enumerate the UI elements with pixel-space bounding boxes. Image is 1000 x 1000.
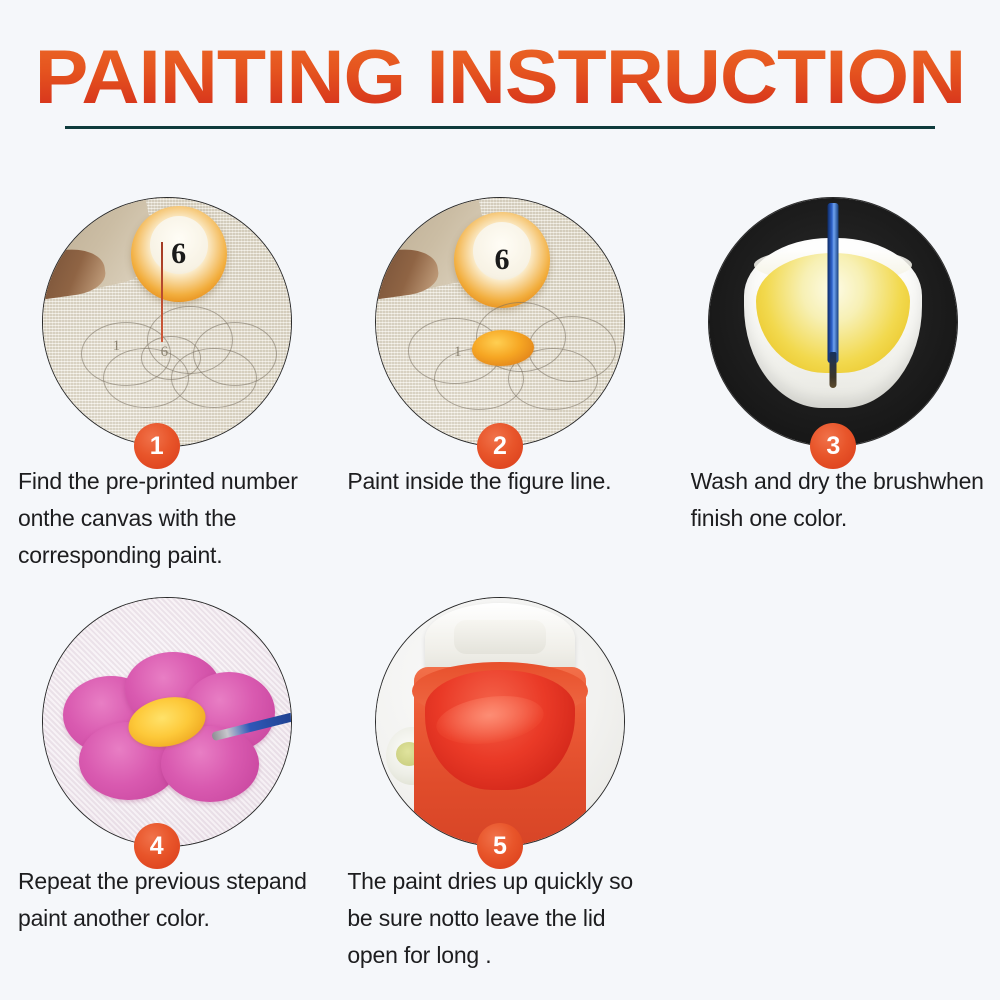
step-3-image [708,197,958,447]
step-4-thumb-wrap: 4 [42,597,292,847]
step-badge-3: 3 [810,423,856,469]
step-1-image: 6 1 6 [42,197,292,447]
step-badge-1: 1 [134,423,180,469]
step-badge-4: 4 [134,823,180,869]
painting-instruction-infographic: PAINTING INSTRUCTION [0,0,1000,1000]
paint-brush-tip [830,352,837,388]
step-card-5: 5 The paint dries up quickly so be sure … [333,590,666,990]
canvas-number-1: 1 [113,338,121,355]
steps-row-2: 4 Repeat the previous stepand paint anot… [0,590,1000,990]
step-5-image [375,597,625,847]
step-caption-4: Repeat the previous stepand paint anothe… [0,863,333,937]
step-badge-2: 2 [477,423,523,469]
step-2-thumb-wrap: 6 1 2 [375,197,625,447]
step-card-4: 4 Repeat the previous stepand paint anot… [0,590,333,990]
step-caption-5: The paint dries up quickly so be sure no… [333,863,666,974]
page-title-container: PAINTING INSTRUCTION [0,36,1000,120]
step-4-image [42,597,292,847]
paint-pot-icon: 6 [454,212,550,308]
step-1-thumb-wrap: 6 1 6 1 [42,197,292,447]
step-2-image: 6 1 [375,197,625,447]
page-title: PAINTING INSTRUCTION [35,36,966,120]
step-caption-1: Find the pre-printed number onthe canvas… [0,463,333,574]
pointer-line [161,242,163,342]
paint-pot-number: 6 [171,237,186,271]
step-caption-3: Wash and dry the brushwhen finish one co… [667,463,1000,537]
step-3-thumb-wrap: 3 [708,197,958,447]
steps-row-1: 6 1 6 1 [0,190,1000,590]
step-card-1: 6 1 6 1 [0,190,333,590]
pot-lid-notch [454,620,546,654]
paint-pot-icon: 6 [131,206,227,302]
paint-brush [828,203,839,363]
flower-outline-center [141,336,201,380]
step-badge-5: 5 [477,823,523,869]
steps-grid: 6 1 6 1 [0,190,1000,990]
step-card-2: 6 1 2 Paint inside the figu [333,190,666,590]
canvas-number-6: 6 [161,344,169,361]
canvas-number-1: 1 [454,344,462,361]
step-card-3: 3 Wash and dry the brushwhen finish one … [667,190,1000,590]
step-5-thumb-wrap: 5 [375,597,625,847]
paint-pot-number: 6 [494,243,509,277]
title-underline-rule [65,126,935,129]
